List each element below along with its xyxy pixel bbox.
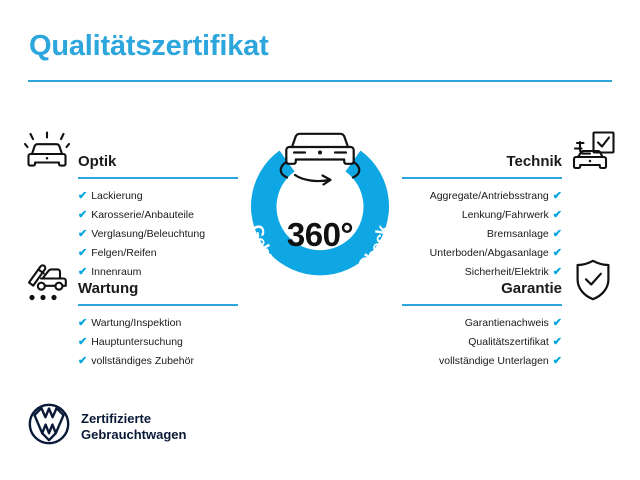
shield-check-icon: [575, 259, 611, 306]
list-item: ✔Felgen/Reifen: [78, 244, 238, 263]
section-optik-list: ✔Lackierung ✔Karosserie/Anbauteile ✔Verg…: [78, 187, 238, 282]
certificate-canvas: Qualitätszertifikat: [0, 0, 640, 480]
section-wartung-title: Wartung: [78, 280, 138, 298]
check-icon: ✔: [78, 190, 87, 202]
car-rotate-360-icon: [281, 134, 360, 185]
section-technik-title: Technik: [506, 153, 562, 171]
check-icon: ✔: [78, 336, 87, 348]
section-technik-list: Aggregate/Antriebsstrang✔ Lenkung/Fahrwe…: [402, 187, 562, 282]
list-item-label: vollständiges Zubehör: [91, 355, 194, 367]
list-item-label: Lackierung: [91, 190, 142, 202]
list-item: Lenkung/Fahrwerk✔: [402, 206, 562, 225]
list-item-label: Karosserie/Anbauteile: [91, 209, 194, 221]
page-title: Qualitätszertifikat: [29, 30, 269, 63]
list-item: ✔Verglasung/Beleuchtung: [78, 225, 238, 244]
vw-certified-label: Zertifizierte Gebrauchtwagen: [81, 411, 186, 443]
car-shine-icon: [24, 131, 70, 178]
list-item-label: Bremsanlage: [487, 228, 549, 240]
section-optik-header: Optik: [78, 145, 238, 171]
check-icon: ✔: [78, 228, 87, 240]
list-item: vollständige Unterlagen✔: [402, 352, 562, 371]
section-wartung-divider: [78, 304, 238, 306]
section-wartung-list: ✔Wartung/Inspektion ✔Hauptuntersuchung ✔…: [78, 314, 238, 371]
check-icon: ✔: [553, 228, 562, 240]
list-item: Garantienachweis✔: [402, 314, 562, 333]
list-item-label: Qualitätszertifikat: [468, 336, 549, 348]
list-item-label: Felgen/Reifen: [91, 247, 156, 259]
section-optik: Optik ✔Lackierung ✔Karosserie/Anbauteile…: [78, 145, 238, 282]
list-item-label: Lenkung/Fahrwerk: [462, 209, 549, 221]
list-item: ✔Hauptuntersuchung: [78, 333, 238, 352]
badge-360-gebrauchtwagen-check: Gebrauchtwagen-Check 360°: [229, 117, 411, 315]
list-item-label: Wartung/Inspektion: [91, 317, 181, 329]
list-item: ✔vollständiges Zubehör: [78, 352, 238, 371]
badge-degrees: 360°: [229, 213, 411, 257]
vw-certified-lockup: Zertifizierte Gebrauchtwagen: [28, 403, 186, 450]
car-service-pen-icon: [24, 259, 70, 310]
list-item: Aggregate/Antriebsstrang✔: [402, 187, 562, 206]
section-technik-header: Technik: [402, 145, 562, 171]
list-item-label: vollständige Unterlagen: [439, 355, 549, 367]
list-item-label: Unterboden/Abgasanlage: [430, 247, 549, 259]
list-item: Qualitätszertifikat✔: [402, 333, 562, 352]
section-wartung-header: Wartung: [78, 272, 238, 298]
list-item: Unterboden/Abgasanlage✔: [402, 244, 562, 263]
section-technik-divider: [402, 177, 562, 179]
section-optik-title: Optik: [78, 153, 116, 171]
list-item-label: Hauptuntersuchung: [91, 336, 183, 348]
check-icon: ✔: [553, 336, 562, 348]
section-garantie-title: Garantie: [501, 280, 562, 298]
section-garantie: Garantie Garantienachweis✔ Qualitätszert…: [402, 272, 562, 371]
list-item-label: Garantienachweis: [465, 317, 549, 329]
check-icon: ✔: [78, 317, 87, 329]
list-item: ✔Lackierung: [78, 187, 238, 206]
list-item: ✔Karosserie/Anbauteile: [78, 206, 238, 225]
check-icon: ✔: [78, 247, 87, 259]
check-icon: ✔: [78, 209, 87, 221]
check-icon: ✔: [78, 355, 87, 367]
car-lift-checkbox-icon: [568, 131, 616, 180]
list-item-label: Aggregate/Antriebsstrang: [430, 190, 549, 202]
check-icon: ✔: [553, 247, 562, 259]
check-icon: ✔: [553, 355, 562, 367]
section-garantie-divider: [402, 304, 562, 306]
section-technik: Technik Aggregate/Antriebsstrang✔ Lenkun…: [402, 145, 562, 282]
section-garantie-list: Garantienachweis✔ Qualitätszertifikat✔ v…: [402, 314, 562, 371]
list-item: ✔Wartung/Inspektion: [78, 314, 238, 333]
volkswagen-logo: [28, 403, 70, 450]
check-icon: ✔: [553, 190, 562, 202]
section-wartung: Wartung ✔Wartung/Inspektion ✔Hauptunters…: [78, 272, 238, 371]
list-item: Bremsanlage✔: [402, 225, 562, 244]
check-icon: ✔: [553, 317, 562, 329]
section-garantie-header: Garantie: [402, 272, 562, 298]
list-item-label: Verglasung/Beleuchtung: [91, 228, 205, 240]
header-divider: [28, 80, 612, 82]
check-icon: ✔: [553, 209, 562, 221]
section-optik-divider: [78, 177, 238, 179]
